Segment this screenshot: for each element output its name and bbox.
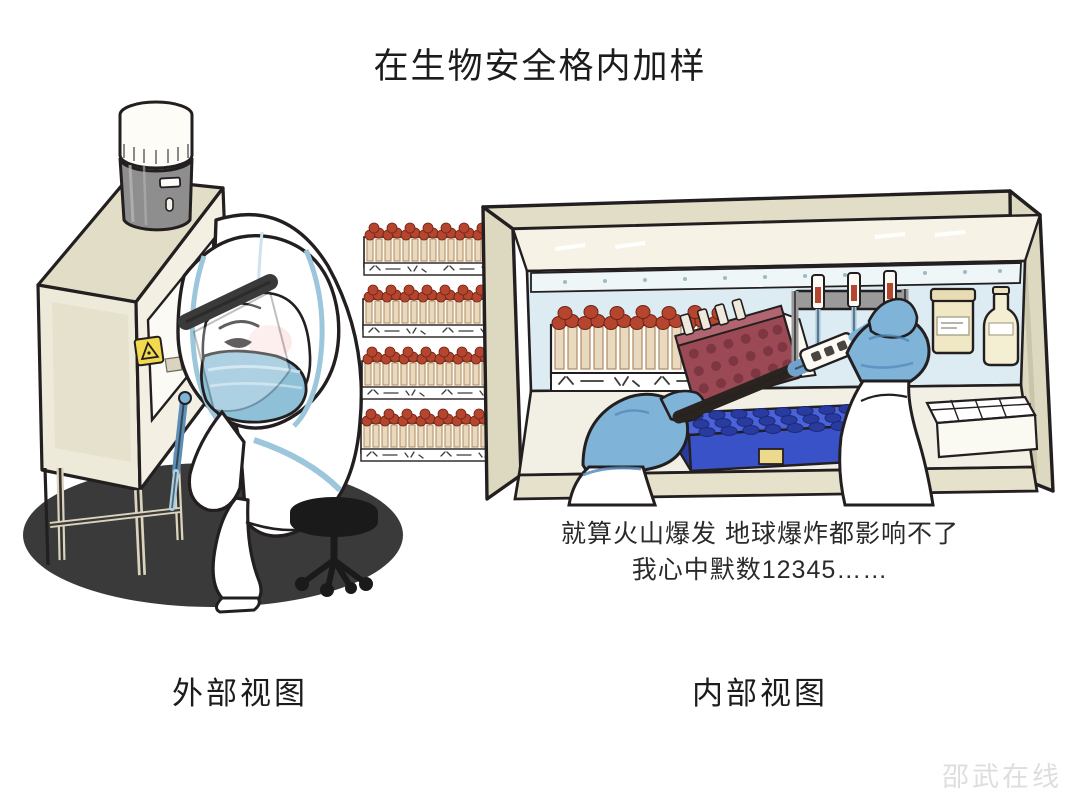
reagent-jar <box>931 289 975 353</box>
caption-line-1: 就算火山爆发 地球爆炸都影响不了 <box>500 516 1020 552</box>
label-internal-view: 内部视图 <box>635 668 885 713</box>
rack-label <box>759 449 783 464</box>
grid-tray <box>927 397 1037 457</box>
watermark: 邵武在线 <box>942 755 1062 794</box>
caption-line-2: 我心中默数12345…… <box>500 552 1020 588</box>
hepa-filter-unit <box>120 102 192 230</box>
internal-view-illustration <box>465 175 1065 505</box>
caption-text: 就算火山爆发 地球爆炸都影响不了 我心中默数12345…… <box>500 516 1020 589</box>
label-external-view: 外部视图 <box>120 668 360 713</box>
biohazard-label <box>134 336 163 365</box>
poster-canvas: 在生物安全格内加样 <box>0 0 1080 806</box>
